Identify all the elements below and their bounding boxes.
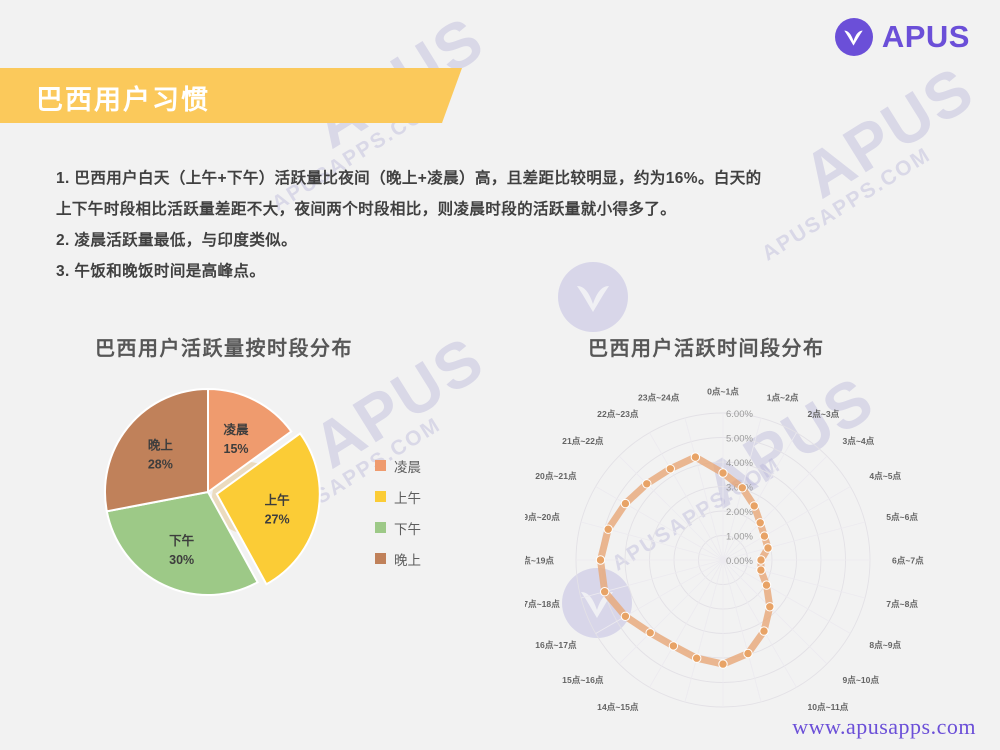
radar-tick-label: 2.00%: [726, 507, 753, 518]
radar-data-point-15[interactable]: [646, 629, 654, 637]
radar-data-point-16[interactable]: [621, 612, 629, 620]
bullet-line: 上下午时段相比活跃量差距不大，夜间两个时段相比，则凌晨时段的活跃量就小得多了。: [56, 194, 946, 225]
footer-url[interactable]: www.apusapps.com: [792, 714, 976, 740]
radar-data-point-8[interactable]: [762, 581, 770, 589]
radar-category-label: 0点~1点: [707, 386, 739, 397]
radar-category-label: 21点~22点: [562, 435, 604, 446]
radar-data-point-19[interactable]: [604, 525, 612, 533]
legend-item-2[interactable]: 下午: [375, 512, 421, 543]
radar-category-label: 2点~3点: [808, 408, 840, 419]
radar-axis-spoke: [596, 560, 723, 634]
radar-data-point-1[interactable]: [738, 484, 746, 492]
radar-category-label: 15点~16点: [562, 674, 604, 685]
radar-axis-spoke: [650, 433, 724, 560]
radar-category-label: 6点~7点: [892, 555, 924, 566]
radar-data-point-17[interactable]: [601, 588, 609, 596]
radar-category-label: 17点~18点: [525, 598, 560, 609]
radar-category-label: 23点~24点: [638, 391, 680, 402]
radar-category-label: 4点~5点: [869, 470, 901, 481]
legend-label: 凌晨: [394, 456, 421, 476]
radar-axis-spoke: [723, 560, 850, 634]
radar-chart-canvas: 0.00%1.00%2.00%3.00%4.00%5.00%6.00%0点~1点…: [525, 368, 995, 713]
legend-label: 上午: [394, 487, 421, 507]
radar-category-label: 1点~2点: [767, 391, 799, 402]
radar-category-label: 22点~23点: [597, 408, 639, 419]
bullet-line: 3. 午饭和晚饭时间是高峰点。: [56, 256, 946, 287]
radar-data-point-12[interactable]: [719, 660, 727, 668]
legend-swatch-icon: [375, 553, 386, 564]
bullet-line: 1. 巴西用户白天（上午+下午）活跃量比夜间（晚上+凌晨）高，且差距比较明显，约…: [56, 163, 946, 194]
radar-data-point-20[interactable]: [621, 499, 629, 507]
pie-slice-value: 28%: [148, 458, 173, 472]
radar-data-point-3[interactable]: [756, 519, 764, 527]
radar-category-label: 20点~21点: [535, 470, 577, 481]
radar-category-label: 19点~20点: [525, 511, 560, 522]
legend-swatch-icon: [375, 491, 386, 502]
radar-tick-label: 1.00%: [726, 532, 753, 543]
legend-item-1[interactable]: 上午: [375, 481, 421, 512]
legend-label: 晚上: [394, 549, 421, 569]
radar-tick-label: 0.00%: [726, 556, 753, 567]
page-title: 巴西用户习惯: [36, 78, 210, 117]
radar-data-point-5[interactable]: [764, 544, 772, 552]
radar-data-point-9[interactable]: [766, 603, 774, 611]
radar-category-label: 7点~8点: [886, 598, 918, 609]
radar-category-label: 10点~11点: [808, 701, 849, 712]
radar-data-point-21[interactable]: [643, 480, 651, 488]
radar-tick-label: 4.00%: [726, 458, 753, 469]
bullet-line: 2. 凌晨活跃量最低，与印度类似。: [56, 225, 946, 256]
radar-chart-title: 巴西用户活跃时间段分布: [588, 332, 825, 361]
pie-slice-label: 凌晨: [224, 422, 250, 437]
radar-data-point-2[interactable]: [750, 502, 758, 510]
radar-category-label: 14点~15点: [597, 701, 639, 712]
radar-category-label: 18点~19点: [525, 555, 554, 566]
radar-axis-spoke: [723, 560, 797, 687]
radar-data-point-14[interactable]: [669, 642, 677, 650]
apus-logo-text: APUS: [882, 19, 970, 55]
pie-slice-label: 上午: [265, 492, 291, 507]
apus-logo: APUS: [835, 18, 970, 56]
radar-data-point-4[interactable]: [760, 532, 768, 540]
pie-slice-value: 30%: [169, 553, 194, 567]
legend-item-0[interactable]: 凌晨: [375, 450, 421, 481]
pie-slice-label: 下午: [169, 533, 195, 548]
apus-logo-icon: [835, 18, 873, 56]
radar-category-label: 9点~10点: [843, 674, 880, 685]
pie-slice-value: 27%: [265, 512, 290, 526]
radar-data-point-13[interactable]: [693, 654, 701, 662]
radar-chart: 0.00%1.00%2.00%3.00%4.00%5.00%6.00%0点~1点…: [525, 368, 995, 713]
legend-swatch-icon: [375, 522, 386, 533]
radar-data-point-7[interactable]: [757, 566, 765, 574]
radar-axis-spoke: [723, 487, 850, 561]
legend-item-3[interactable]: 晚上: [375, 543, 421, 574]
radar-tick-label: 6.00%: [726, 409, 753, 420]
summary-text-block: 1. 巴西用户白天（上午+下午）活跃量比夜间（晚上+凌晨）高，且差距比较明显，约…: [56, 163, 946, 287]
radar-data-point-18[interactable]: [596, 556, 604, 564]
legend-label: 下午: [394, 518, 421, 538]
radar-data-point-6[interactable]: [757, 556, 765, 564]
radar-category-label: 16点~17点: [535, 639, 577, 650]
radar-data-point-11[interactable]: [744, 649, 752, 657]
radar-category-label: 8点~9点: [869, 639, 901, 650]
radar-data-point-23[interactable]: [691, 453, 699, 461]
pie-chart-legend: 凌晨上午下午晚上: [375, 450, 421, 574]
pie-slice-label: 晚上: [148, 438, 174, 453]
radar-data-point-10[interactable]: [760, 627, 768, 635]
pie-slice-value: 15%: [224, 442, 249, 456]
pie-chart: 凌晨15%上午27%下午30%晚上28% 凌晨上午下午晚上: [70, 368, 500, 618]
radar-tick-label: 5.00%: [726, 434, 753, 445]
radar-category-label: 5点~6点: [886, 511, 918, 522]
pie-chart-canvas: 凌晨15%上午27%下午30%晚上28%: [70, 368, 370, 618]
radar-axis-spoke: [650, 560, 724, 687]
radar-category-label: 3点~4点: [843, 435, 875, 446]
radar-data-point-0[interactable]: [719, 469, 727, 477]
radar-data-point-22[interactable]: [666, 465, 674, 473]
legend-swatch-icon: [375, 460, 386, 471]
radar-axis-spoke: [723, 560, 827, 664]
slide-root: APUS APUSAPPS.COM APUS APUSAPPS.COM APUS…: [0, 0, 1000, 750]
pie-chart-title: 巴西用户活跃量按时段分布: [95, 332, 353, 361]
